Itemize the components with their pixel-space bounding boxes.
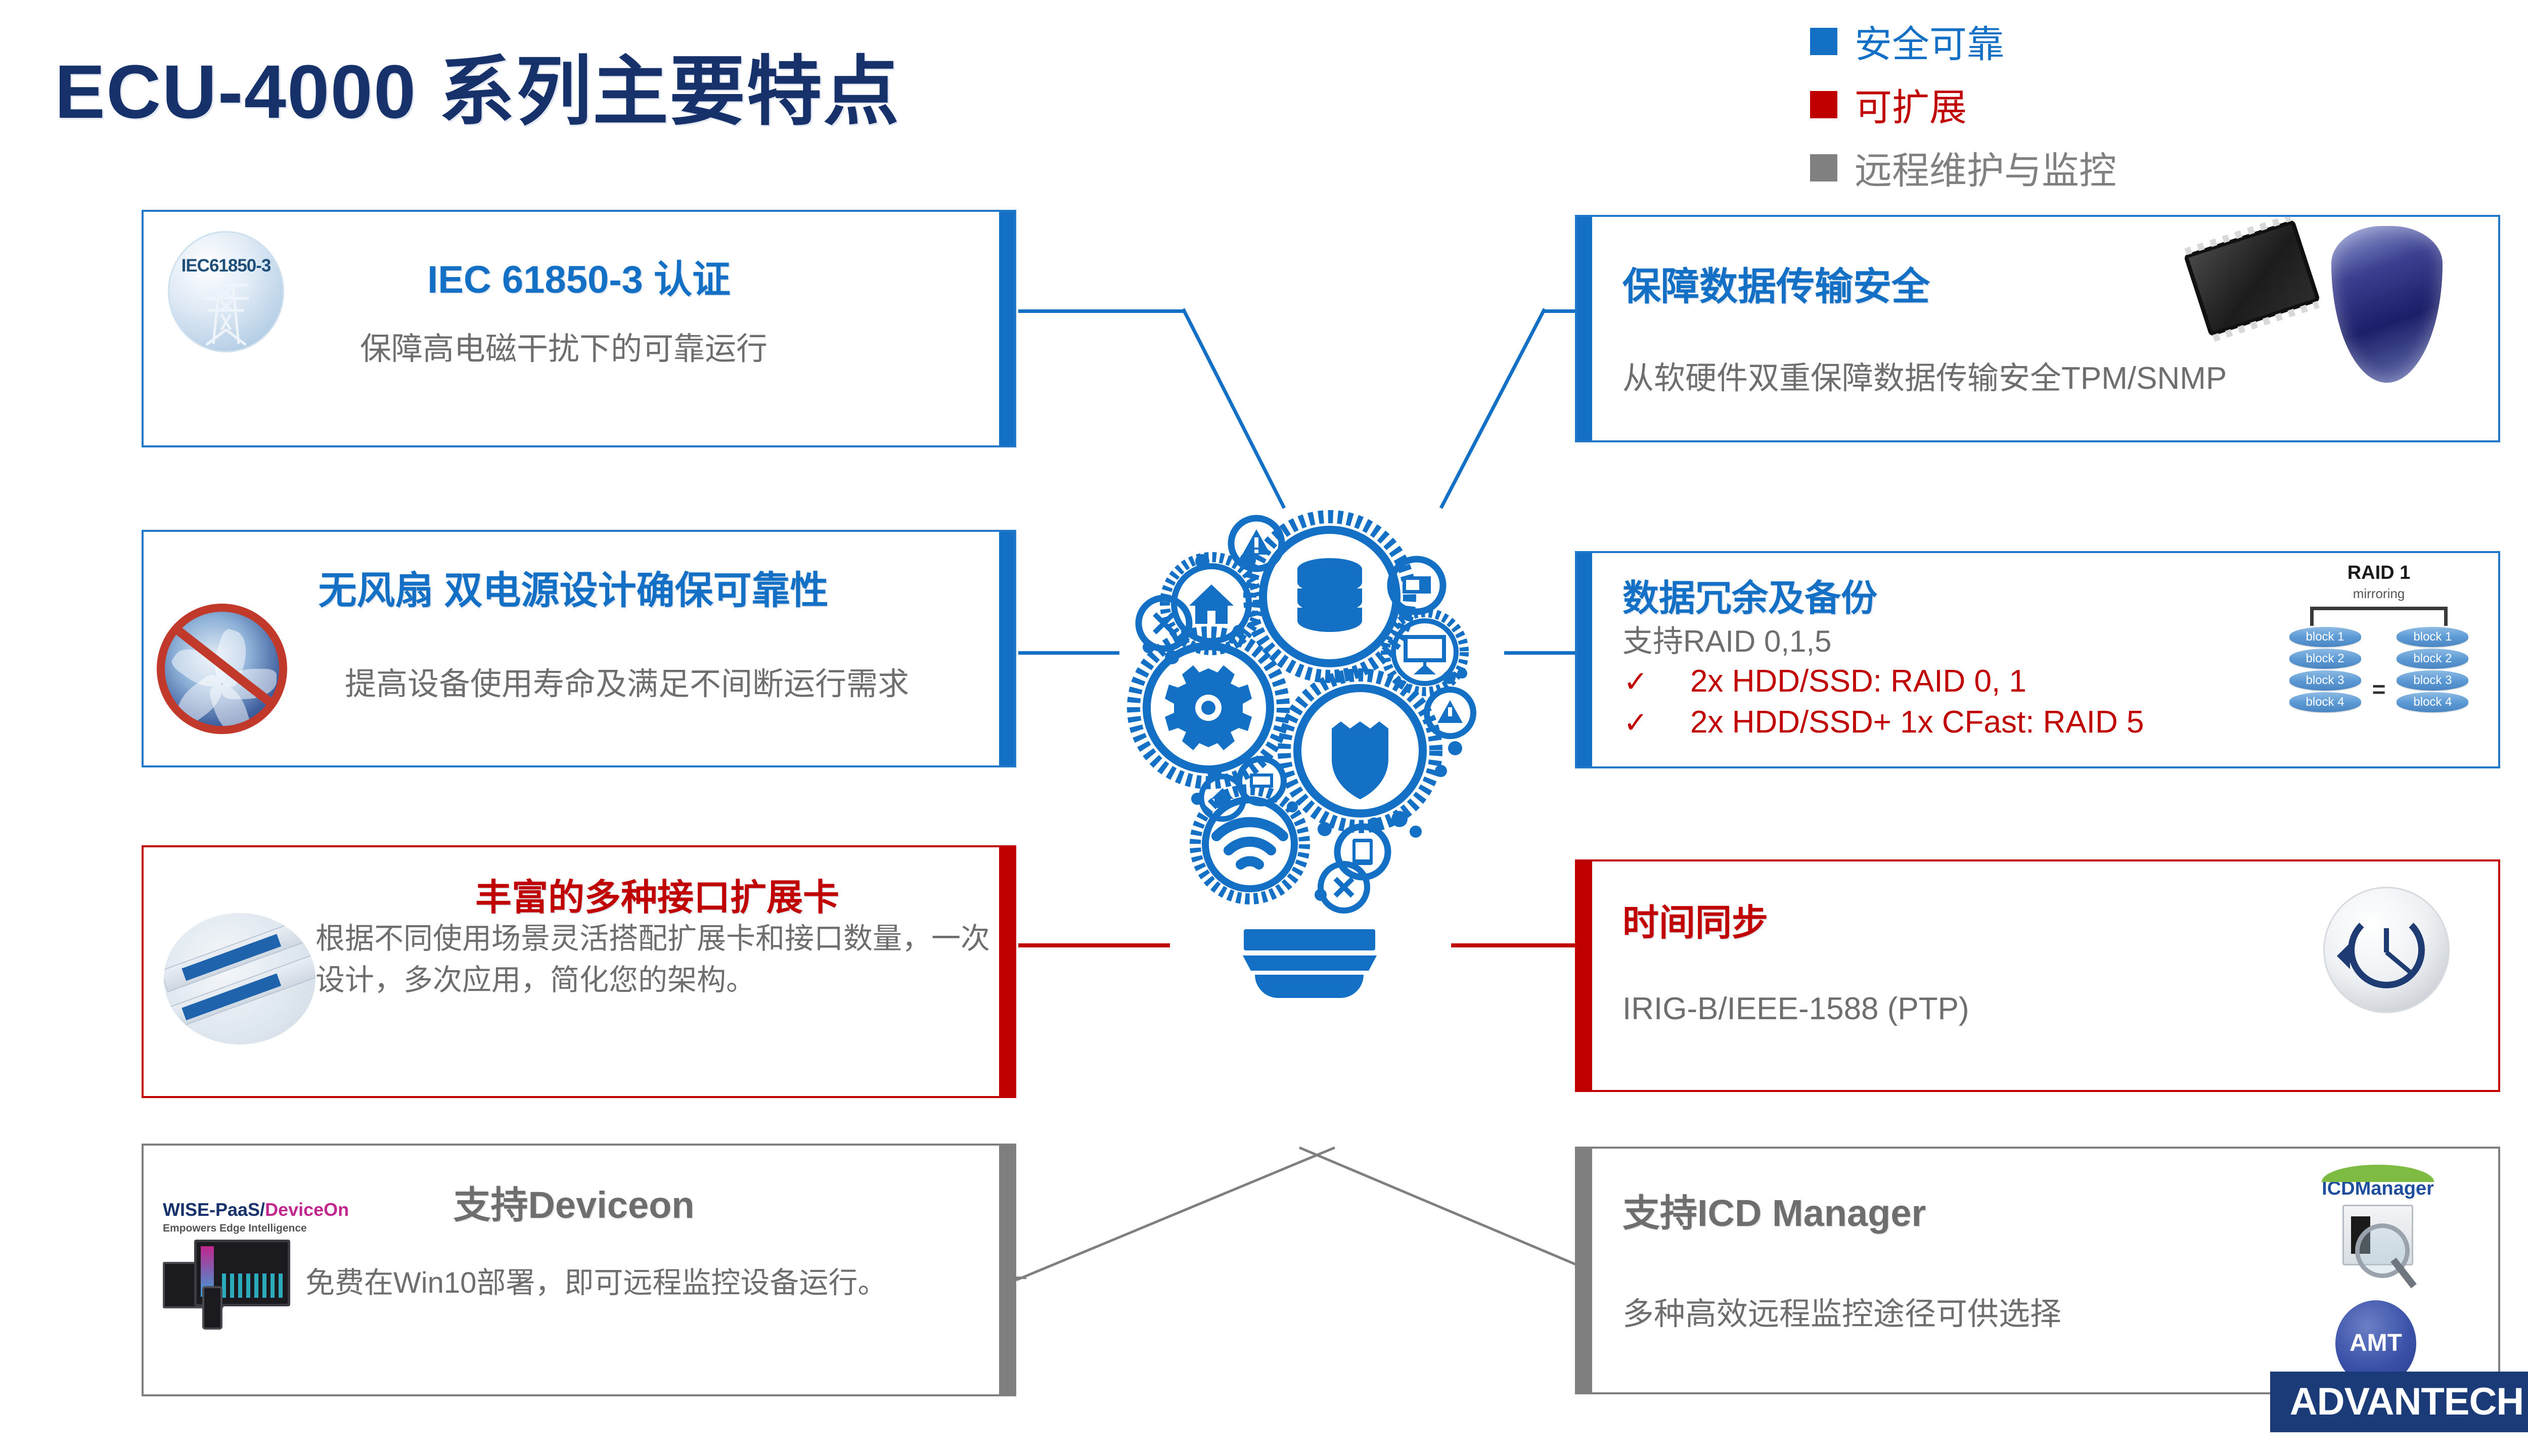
legend-item-remote-monitoring: 远程维护与监控 [1810,141,2116,195]
checkmark-icon: ✓ [1623,664,1690,699]
feature-card-fanless-dual-power[interactable]: 无风扇 双电源设计确保可靠性 提高设备使用寿命及满足不间断运行需求 [142,530,1016,767]
raid-figure-title: RAID 1 [2283,562,2475,584]
connector-row4-right [1294,1143,1618,1284]
accent-bar-red [1575,861,1592,1090]
page-title: ECU-4000 系列主要特点 [55,30,900,140]
card-title: 无风扇 双电源设计确保可靠性 [144,559,1003,615]
list-item: ✓ 2x HDD/SSD+ 1x CFast: RAID 5 [1623,704,2144,740]
accent-bar-blue [1575,217,1592,440]
legend-swatch-red-icon [1810,91,1837,118]
checkmark-icon: ✓ [1623,705,1690,740]
raid-disk-b: block 1 block 2 block 3 block 4 [2397,627,2468,714]
raid-block: block 1 [2397,627,2468,647]
list-item-label: 2x HDD/SSD+ 1x CFast: RAID 5 [1690,704,2144,740]
bulb-base-cap [1255,975,1364,998]
raid-disk-a: block 1 block 2 block 3 block 4 [2289,627,2361,714]
bulb-base-band [1243,955,1377,971]
card-title: 支持Deviceon [144,1175,1004,1229]
accent-bar-blue [1575,553,1592,766]
icd-arc-icon [2312,1162,2444,1182]
list-item: ✓ 2x HDD/SSD: RAID 0, 1 [1623,663,2144,699]
card-subtitle: 从软硬件双重保障数据传输安全TPM/SNMP [1622,352,2227,398]
magnifier-icon [2355,1223,2410,1278]
clock-sync-icon [2323,887,2450,1013]
card-title: 数据冗余及备份 [1622,568,1877,621]
card-subtitle: 根据不同使用场景灵活搭配扩展卡和接口数量，一次设计，多次应用，简化您的架构。 [315,918,994,1002]
card-title: 丰富的多种接口扩展卡 [315,868,999,921]
raid1-mirroring-icon: RAID 1 mirroring block 1 block 2 block 3… [2283,562,2475,744]
feature-card-time-synchronization[interactable]: 时间同步 IRIG-B/IEEE-1588 (PTP) [1575,859,2500,1092]
tpm-chip-icon [2183,219,2320,337]
security-shield-icon [2331,226,2443,383]
legend-label: 远程维护与监控 [1855,141,2116,195]
raid-block: block 4 [2397,692,2468,712]
legend-label: 安全可靠 [1855,14,2004,68]
card-subtitle: 保障高电磁干扰下的可靠运行 [144,323,984,369]
connector-row4-left [1016,1143,1340,1284]
legend-item-secure-reliable: 安全可靠 [1810,14,2116,68]
feature-card-iec61850[interactable]: IEC61850-3 [142,210,1016,447]
card-title: IEC 61850-3 认证 [144,248,1014,304]
connector-row1-left [1018,309,1185,313]
feature-card-data-transmission-security[interactable]: 保障数据传输安全 从软硬件双重保障数据传输安全TPM/SNMP [1575,215,2500,442]
accent-bar-gray [1575,1149,1592,1392]
legend-label: 可扩展 [1855,77,1967,131]
card-subtitle: 提高设备使用寿命及满足不间断运行需求 [255,658,999,704]
raid-equals-symbol: = [2372,638,2386,703]
raid-block: block 2 [2289,649,2361,669]
raid-block: block 3 [2289,670,2361,691]
feature-card-deviceon-support[interactable]: WISE-PaaS/DeviceOn Empowers Edge Intelli… [142,1144,1016,1396]
raid-bracket-icon [2310,607,2448,626]
card-subtitle: 免费在Win10部署，即可远程监控设备运行。 [305,1262,989,1304]
feature-card-expansion-cards[interactable]: 丰富的多种接口扩展卡 根据不同使用场景灵活搭配扩展卡和接口数量，一次设计，多次应… [142,845,1016,1098]
card-subtitle: 多种高效远程监控途径可供选择 [1622,1288,2061,1334]
card-title: 时间同步 [1622,893,1768,946]
icd-manager-logo-icon: ICDManager [2312,1162,2444,1265]
card-title: 保障数据传输安全 [1622,255,1930,311]
legend: 安全可靠 可扩展 远程维护与监控 [1810,14,2116,204]
legend-item-expandable: 可扩展 [1810,77,2116,131]
raid-figure-subtitle: mirroring [2283,586,2475,602]
card-title: 支持ICD Manager [1622,1183,1926,1237]
raid-block: block 2 [2397,649,2468,669]
list-item-label: 2x HDD/SSD: RAID 0, 1 [1690,663,2026,699]
raid-bullet-list: ✓ 2x HDD/SSD: RAID 0, 1 ✓ 2x HDD/SSD+ 1x… [1623,663,2144,745]
legend-swatch-blue-icon [1810,28,1837,55]
advantech-logo: ADVANTECH [2270,1372,2528,1432]
raid-block: block 3 [2397,670,2468,691]
expansion-card-icon [164,913,315,1044]
raid-block: block 4 [2289,692,2361,712]
connector-diagonal-right-top [1345,306,1557,518]
raid-block: block 1 [2289,627,2361,647]
dashboard-screens-icon [163,1240,294,1331]
feature-card-data-redundancy-backup[interactable]: 数据冗余及备份 支持RAID 0,1,5 ✓ 2x HDD/SSD: RAID … [1575,551,2500,768]
icd-device-icon [2342,1205,2413,1265]
accent-bar-red [999,847,1016,1096]
accent-bar-blue [999,212,1016,445]
feature-card-icd-manager-support[interactable]: ICDManager AMT 支持ICD Manager 多种高效远程监控途径可… [1575,1147,2500,1394]
card-subtitle: IRIG-B/IEEE-1588 (PTP) [1622,991,1969,1027]
lightbulb-of-gears-graphic [1087,495,1542,950]
card-subtitle: 支持RAID 0,1,5 [1622,617,1831,661]
slide-canvas: ECU-4000 系列主要特点 安全可靠 可扩展 远程维护与监控 [0,0,2528,1456]
legend-swatch-gray-icon [1810,154,1837,181]
